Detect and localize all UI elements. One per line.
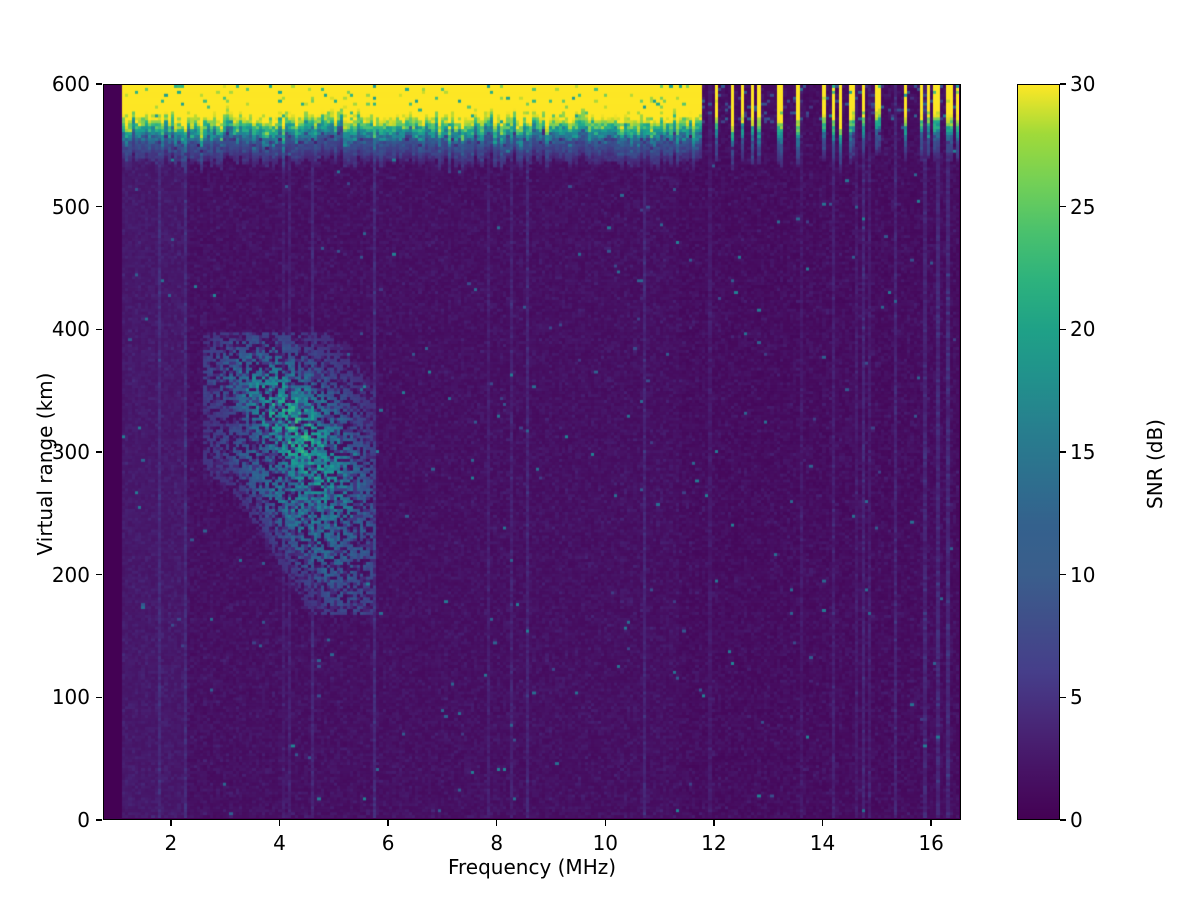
y-tick-mark — [96, 206, 102, 207]
x-tick-label: 12 — [684, 832, 744, 854]
colorbar-tick-mark — [1060, 206, 1066, 207]
y-tick-label: 500 — [24, 197, 90, 217]
x-tick-label: 14 — [793, 832, 853, 854]
x-tick-label: 16 — [901, 832, 961, 854]
y-tick-mark — [96, 83, 102, 84]
colorbar[interactable] — [1017, 84, 1060, 820]
colorbar-tick-label: 20 — [1070, 319, 1120, 339]
colorbar-tick-label: 0 — [1070, 810, 1120, 830]
x-tick-mark — [496, 820, 497, 826]
colorbar-tick-mark — [1060, 574, 1066, 575]
y-tick-label: 100 — [24, 687, 90, 707]
y-tick-label: 600 — [24, 74, 90, 94]
colorbar-gradient — [1018, 85, 1059, 819]
y-tick-mark — [96, 819, 102, 820]
x-tick-label: 6 — [358, 832, 418, 854]
x-tick-mark — [713, 820, 714, 826]
x-tick-label: 8 — [467, 832, 527, 854]
x-tick-label: 10 — [575, 832, 635, 854]
x-tick-label: 4 — [249, 832, 309, 854]
x-tick-label: 2 — [141, 832, 201, 854]
x-tick-mark — [605, 820, 606, 826]
ionogram-heatmap[interactable] — [104, 85, 959, 818]
colorbar-tick-label: 5 — [1070, 687, 1120, 707]
y-tick-mark — [96, 574, 102, 575]
x-axis-title: Frequency (MHz) — [103, 855, 961, 879]
y-tick-mark — [96, 697, 102, 698]
y-tick-mark — [96, 451, 102, 452]
x-tick-mark — [170, 820, 171, 826]
x-tick-mark — [387, 820, 388, 826]
colorbar-tick-label: 10 — [1070, 565, 1120, 585]
colorbar-tick-label: 30 — [1070, 74, 1120, 94]
y-tick-mark — [96, 329, 102, 330]
colorbar-title: SNR (dB) — [1143, 314, 1167, 614]
x-tick-mark — [930, 820, 931, 826]
colorbar-tick-mark — [1060, 83, 1066, 84]
ionogram-plot-area[interactable] — [103, 84, 961, 820]
x-tick-mark — [279, 820, 280, 826]
colorbar-tick-label: 25 — [1070, 197, 1120, 217]
colorbar-tick-mark — [1060, 451, 1066, 452]
colorbar-tick-mark — [1060, 819, 1066, 820]
colorbar-tick-label: 15 — [1070, 442, 1120, 462]
colorbar-tick-mark — [1060, 697, 1066, 698]
y-axis-title: Virtual range (km) — [33, 314, 57, 614]
colorbar-tick-mark — [1060, 329, 1066, 330]
y-tick-label: 0 — [24, 810, 90, 830]
x-tick-mark — [822, 820, 823, 826]
